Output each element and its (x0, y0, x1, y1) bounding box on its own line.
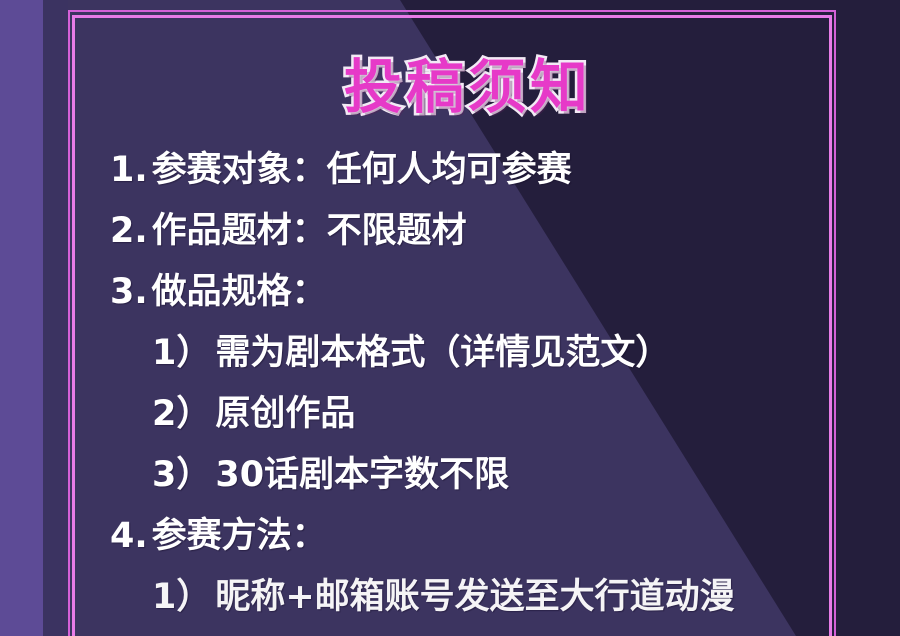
list-item-text: 参赛方法： (152, 516, 327, 556)
list-item-marker: 1） (152, 577, 211, 617)
list-item-marker: 2. (110, 211, 148, 251)
page-title: 投稿须知 (344, 40, 592, 124)
list-item-marker: 3. (110, 272, 148, 312)
list-item-text: 原创作品 (215, 394, 355, 434)
list-item: 2）原创作品 (110, 384, 870, 445)
list-item-text: 昵称+邮箱账号发送至大行道动漫 (215, 577, 734, 617)
list-item-marker: 1. (110, 150, 148, 190)
list-item-text: 参赛对象：任何人均可参赛 (152, 150, 572, 190)
list-item: 3）30话剧本字数不限 (110, 445, 870, 506)
list-item-text: 需为剧本格式（详情见范文） (215, 333, 670, 373)
list-item-marker: 3） (152, 455, 211, 495)
list-item-marker: 1） (152, 333, 211, 373)
list-item: 1）需为剧本格式（详情见范文） (110, 323, 870, 384)
title-container: 投稿须知 (0, 40, 900, 124)
list-item-text: 作品题材：不限题材 (152, 211, 467, 251)
list-item: 3.做品规格： (110, 262, 870, 323)
list-item-marker: 2） (152, 394, 211, 434)
list-item-marker: 4. (110, 516, 148, 556)
list-item-text: 30话剧本字数不限 (215, 455, 509, 495)
poster-image: 投稿须知 1.参赛对象：任何人均可参赛 2.作品题材：不限题材 3.做品规格： … (0, 0, 900, 636)
notice-list: 1.参赛对象：任何人均可参赛 2.作品题材：不限题材 3.做品规格： 1）需为剧… (110, 140, 870, 628)
list-item: 1）昵称+邮箱账号发送至大行道动漫 (110, 567, 870, 628)
list-item: 2.作品题材：不限题材 (110, 201, 870, 262)
list-item: 1.参赛对象：任何人均可参赛 (110, 140, 870, 201)
list-item-text: 做品规格： (152, 272, 327, 312)
list-item: 4.参赛方法： (110, 506, 870, 567)
